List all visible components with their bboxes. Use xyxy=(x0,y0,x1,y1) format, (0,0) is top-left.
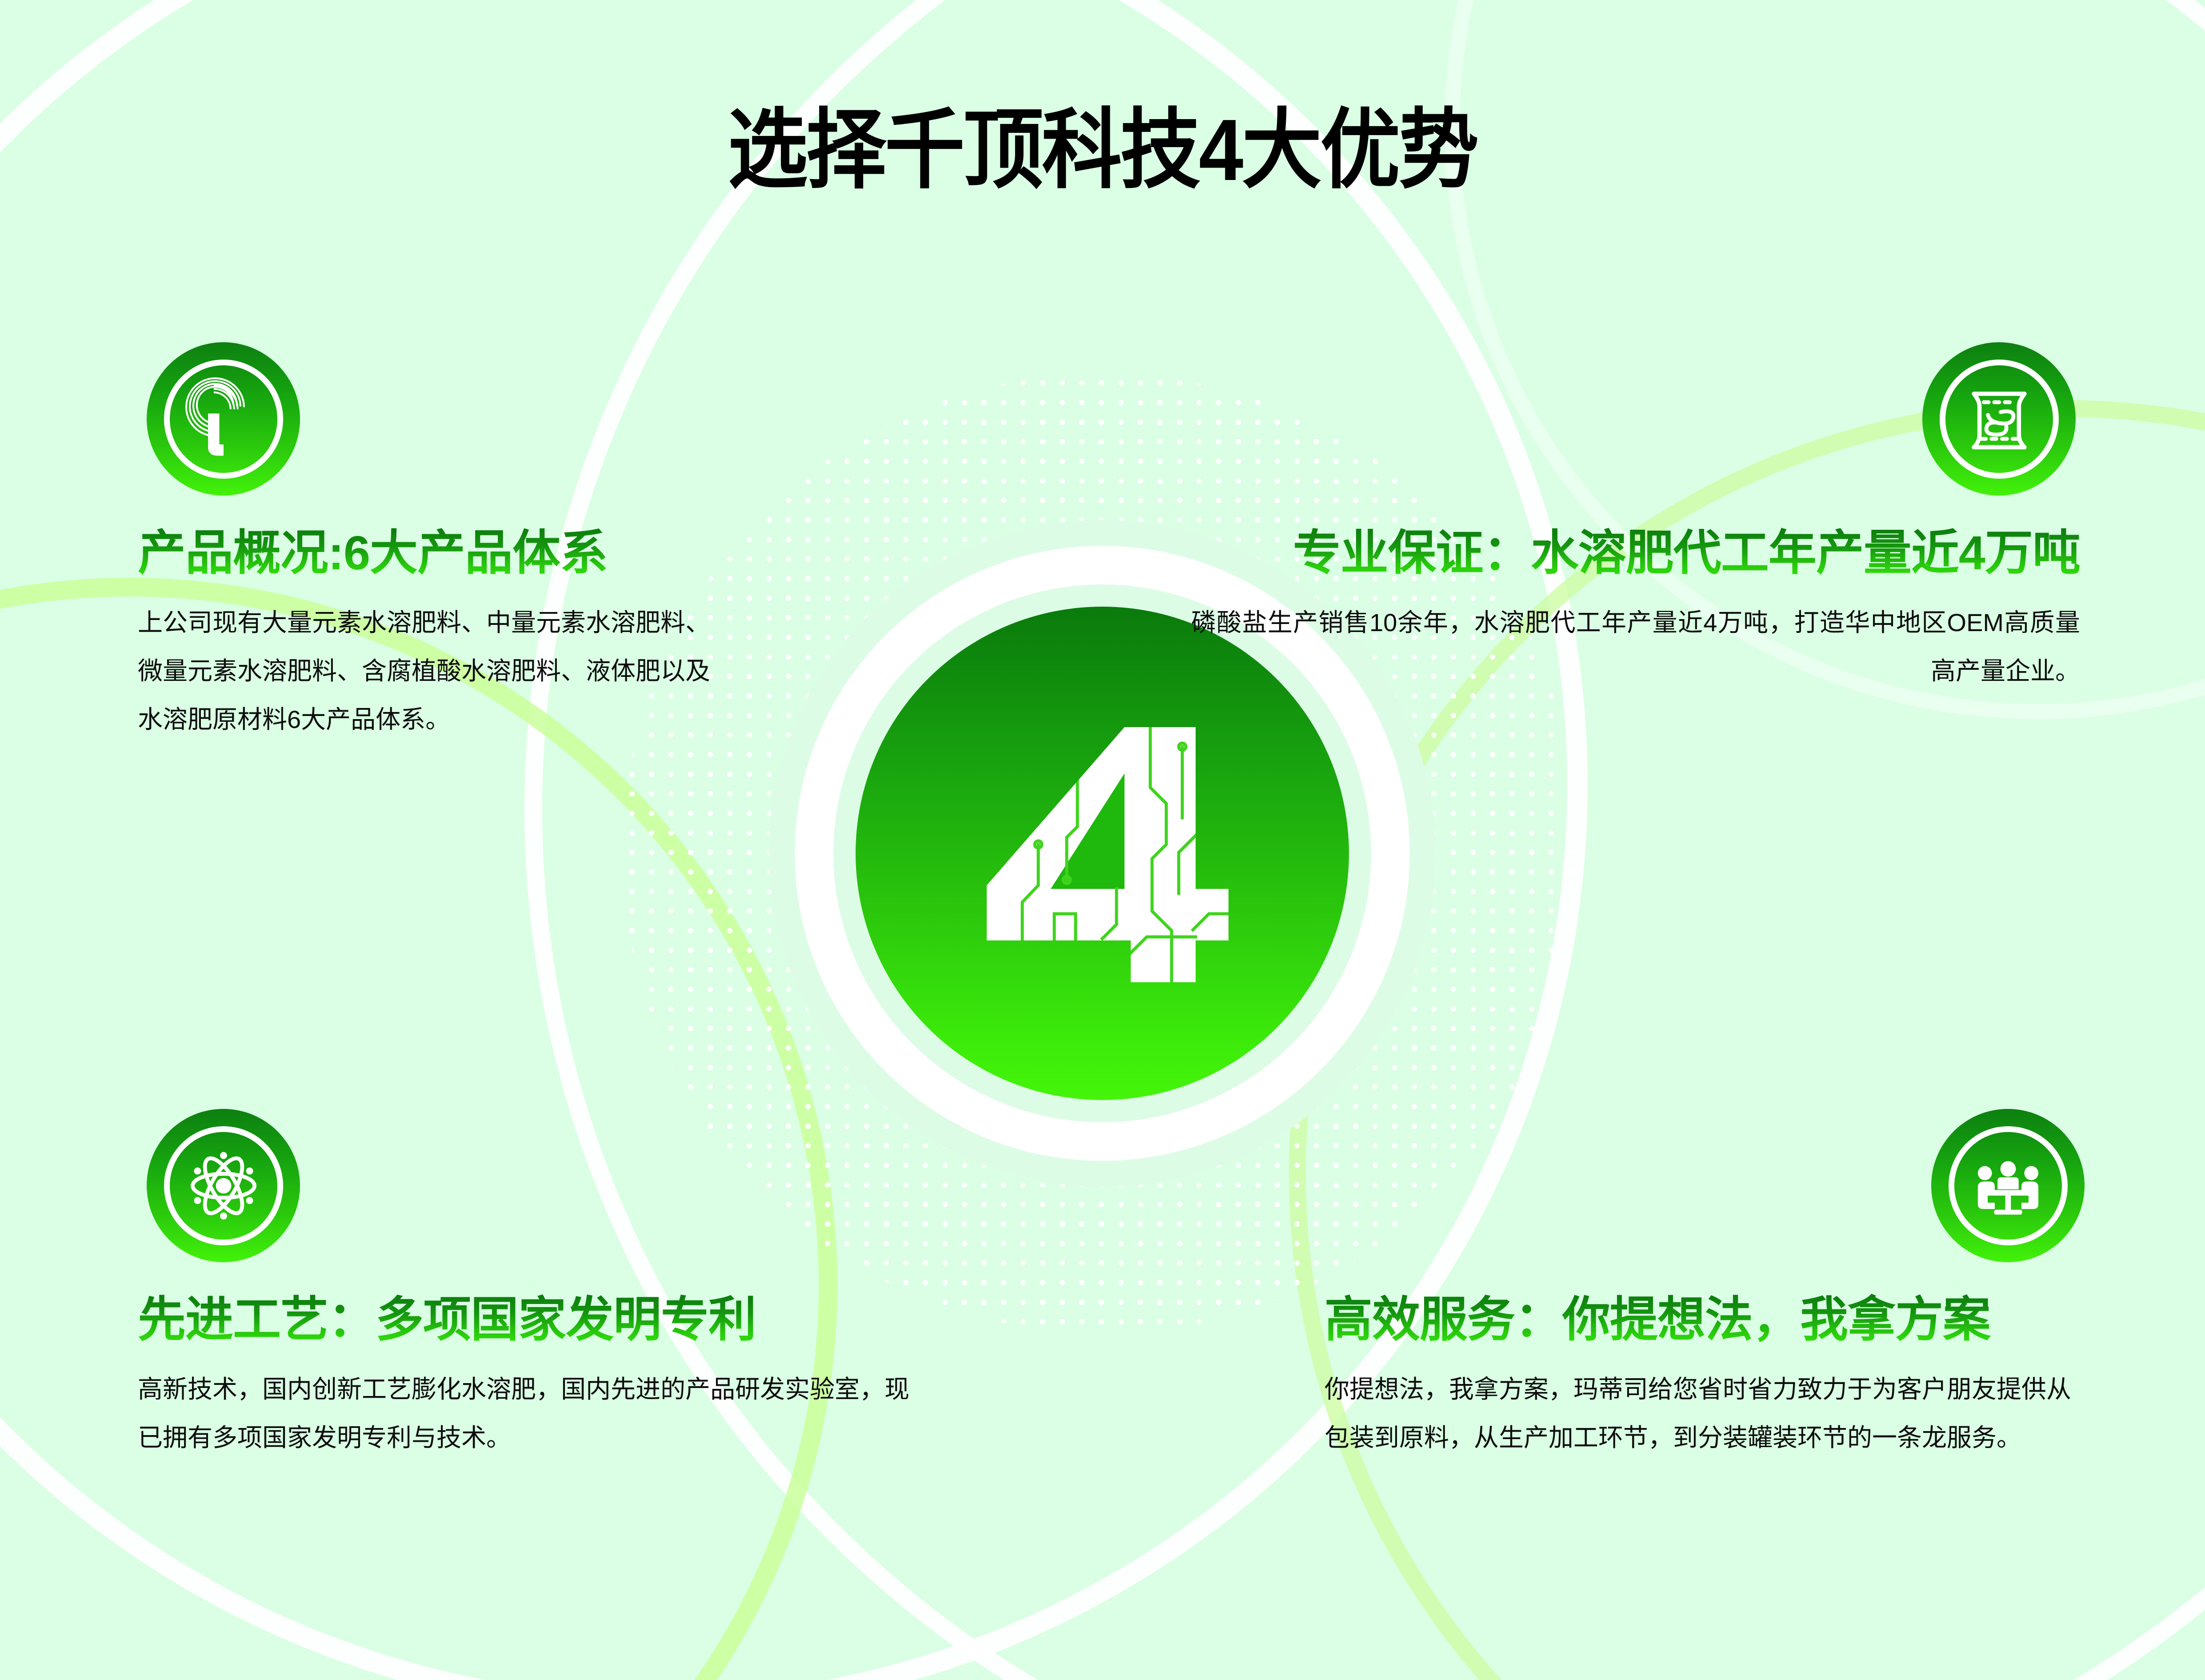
center-medallion xyxy=(591,342,1613,1364)
quadrant-heading: 先进工艺：多项国家发明专利 xyxy=(138,1293,920,1346)
infographic-poster: 选择千顶科技4大优势 xyxy=(0,0,2205,1680)
fertilizer-bag-glyph xyxy=(1957,377,2041,461)
meeting-people-table-icon xyxy=(1931,1109,2085,1262)
quadrant-body: 上公司现有大量元素水溶肥料、中量元素水溶肥料、微量元素水溶肥料、含腐植酸水溶肥料… xyxy=(138,598,711,744)
atom-molecule-icon xyxy=(147,1109,300,1262)
quadrant-body: 你提想法，我拿方案，玛蒂司给您省时省力致力于为客户朋友提供从包装到原料，从生产加… xyxy=(1325,1365,2089,1462)
meeting-glyph xyxy=(1966,1144,2050,1228)
icon-inner-ring xyxy=(1940,360,2059,479)
center-number-four-icon xyxy=(969,711,1236,996)
icon-inner-ring xyxy=(1949,1126,2068,1245)
icon-inner-ring xyxy=(164,1126,283,1245)
icon-inner-ring xyxy=(164,360,283,479)
number-six-spiral-icon xyxy=(147,342,300,496)
quadrant-body: 磷酸盐生产销售10余年，水溶肥代工年产量近4万吨，打造华中地区OEM高质量高产量… xyxy=(1191,598,2080,695)
quadrant-heading: 高效服务：你提想法，我拿方案 xyxy=(1325,1293,2089,1346)
fertilizer-bag-icon xyxy=(1922,342,2076,496)
quadrant-heading: 产品概况:6大产品体系 xyxy=(138,527,711,580)
quadrant-text-block: 专业保证：水溶肥代工年产量近4万吨 磷酸盐生产销售10余年，水溶肥代工年产量近4… xyxy=(1191,527,2080,695)
quadrant-text-block: 高效服务：你提想法，我拿方案 你提想法，我拿方案，玛蒂司给您省时省力致力于为客户… xyxy=(1325,1293,2089,1462)
quadrant-heading: 专业保证：水溶肥代工年产量近4万吨 xyxy=(1191,527,2080,580)
atom-glyph xyxy=(181,1144,266,1228)
page-title: 选择千顶科技4大优势 xyxy=(88,107,2117,194)
quadrant-text-block: 先进工艺：多项国家发明专利 高新技术，国内创新工艺膨化水溶肥，国内先进的产品研发… xyxy=(138,1293,920,1462)
six-spiral-glyph xyxy=(181,377,266,461)
quadrant-text-block: 产品概况:6大产品体系 上公司现有大量元素水溶肥料、中量元素水溶肥料、微量元素水… xyxy=(138,527,711,744)
quadrant-body: 高新技术，国内创新工艺膨化水溶肥，国内先进的产品研发实验室，现已拥有多项国家发明… xyxy=(138,1365,920,1462)
